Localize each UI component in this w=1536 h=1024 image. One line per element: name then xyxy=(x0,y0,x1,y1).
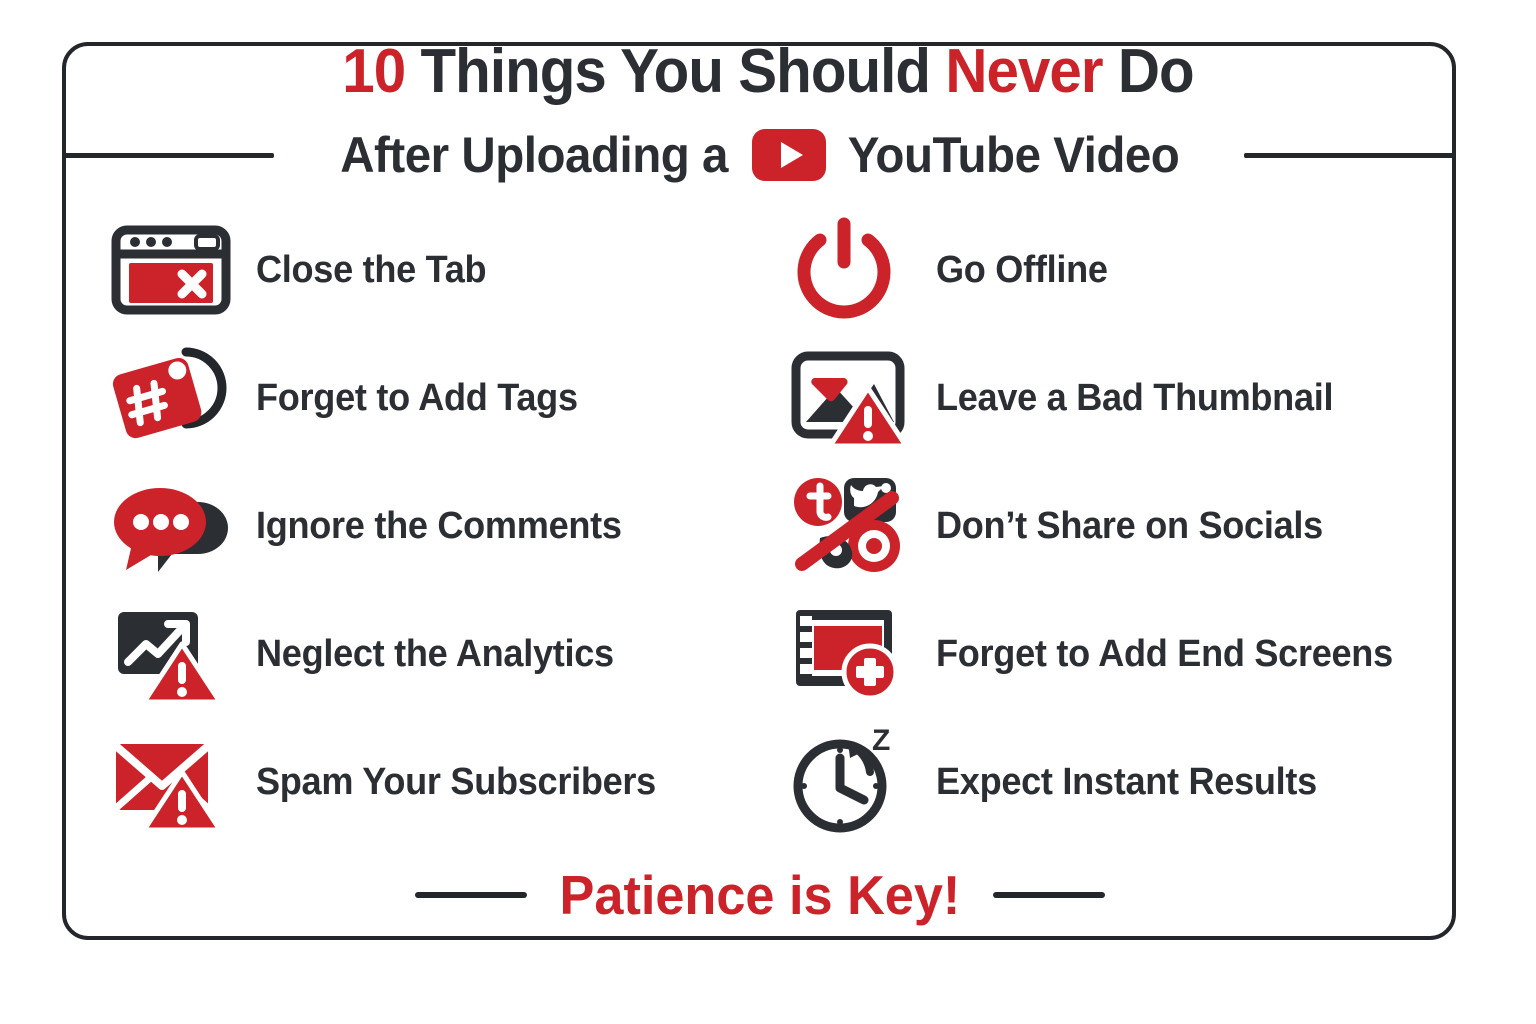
filmstrip-plus-icon xyxy=(790,600,914,708)
list-item: Don’t Share on Socials xyxy=(790,462,1430,590)
footer-rule-right xyxy=(993,892,1105,898)
list-item: Forget to Add End Screens xyxy=(790,590,1430,718)
list-item-label: Close the Tab xyxy=(256,249,486,292)
subtitle-after: YouTube Video xyxy=(847,126,1179,184)
tips-columns: Close the Tab Forget to Add Tags xyxy=(110,206,1430,846)
svg-text:Z: Z xyxy=(872,724,890,757)
title-count: 10 xyxy=(342,37,405,106)
subtitle: After Uploading a YouTube Video xyxy=(278,126,1240,184)
list-item-label: Spam Your Subscribers xyxy=(256,761,656,804)
subtitle-rule-right xyxy=(1244,153,1456,158)
list-item-label: Go Offline xyxy=(936,249,1108,292)
title-accent: Never xyxy=(945,37,1102,106)
list-item: Close the Tab xyxy=(110,206,750,334)
title-tail: Do xyxy=(1103,37,1194,106)
list-item-label: Forget to Add End Screens xyxy=(936,633,1393,676)
power-button-icon xyxy=(790,216,914,324)
footer-rule-left xyxy=(415,892,527,898)
social-icons-slash-icon xyxy=(790,472,914,580)
browser-window-close-icon xyxy=(110,216,234,324)
list-item: Spam Your Subscribers xyxy=(110,718,750,846)
list-item: Neglect the Analytics xyxy=(110,590,750,718)
analytics-chart-warning-icon xyxy=(110,600,234,708)
list-item: Z Expect Instant Results xyxy=(790,718,1430,846)
image-warning-icon xyxy=(790,344,914,452)
subtitle-rule-left xyxy=(62,153,274,158)
list-item-label: Expect Instant Results xyxy=(936,761,1317,804)
youtube-play-icon xyxy=(752,129,826,181)
list-item-label: Forget to Add Tags xyxy=(256,377,578,420)
image-warning-row list-item: Leave a Bad Thumbnail xyxy=(790,334,1430,462)
list-item-label: Leave a Bad Thumbnail xyxy=(936,377,1333,420)
list-item-label: Neglect the Analytics xyxy=(256,633,614,676)
speech-bubbles-icon xyxy=(110,472,234,580)
footer-text: Patience is Key! xyxy=(560,863,961,927)
left-column: Close the Tab Forget to Add Tags xyxy=(110,206,750,846)
right-column: Go Offline Leave a Bad Thumbnail xyxy=(790,206,1430,846)
subtitle-before: After Uploading a xyxy=(341,126,729,184)
price-tag-hash-icon xyxy=(110,344,234,452)
page-title: 10 Things You Should Never Do xyxy=(46,36,1490,107)
clock-snooze-icon: Z xyxy=(790,728,914,836)
list-item-label: Don’t Share on Socials xyxy=(936,505,1323,548)
title-mid: Things You Should xyxy=(405,37,945,106)
list-item: Go Offline xyxy=(790,206,1430,334)
list-item: Ignore the Comments xyxy=(110,462,750,590)
subtitle-row: After Uploading a YouTube Video xyxy=(62,122,1456,188)
list-item-label: Ignore the Comments xyxy=(256,505,622,548)
list-item: Forget to Add Tags xyxy=(110,334,750,462)
envelope-warning-icon xyxy=(110,728,234,836)
footer-row: Patience is Key! xyxy=(330,860,1190,930)
infographic-poster: 10 Things You Should Never Do After Uplo… xyxy=(0,0,1536,1024)
